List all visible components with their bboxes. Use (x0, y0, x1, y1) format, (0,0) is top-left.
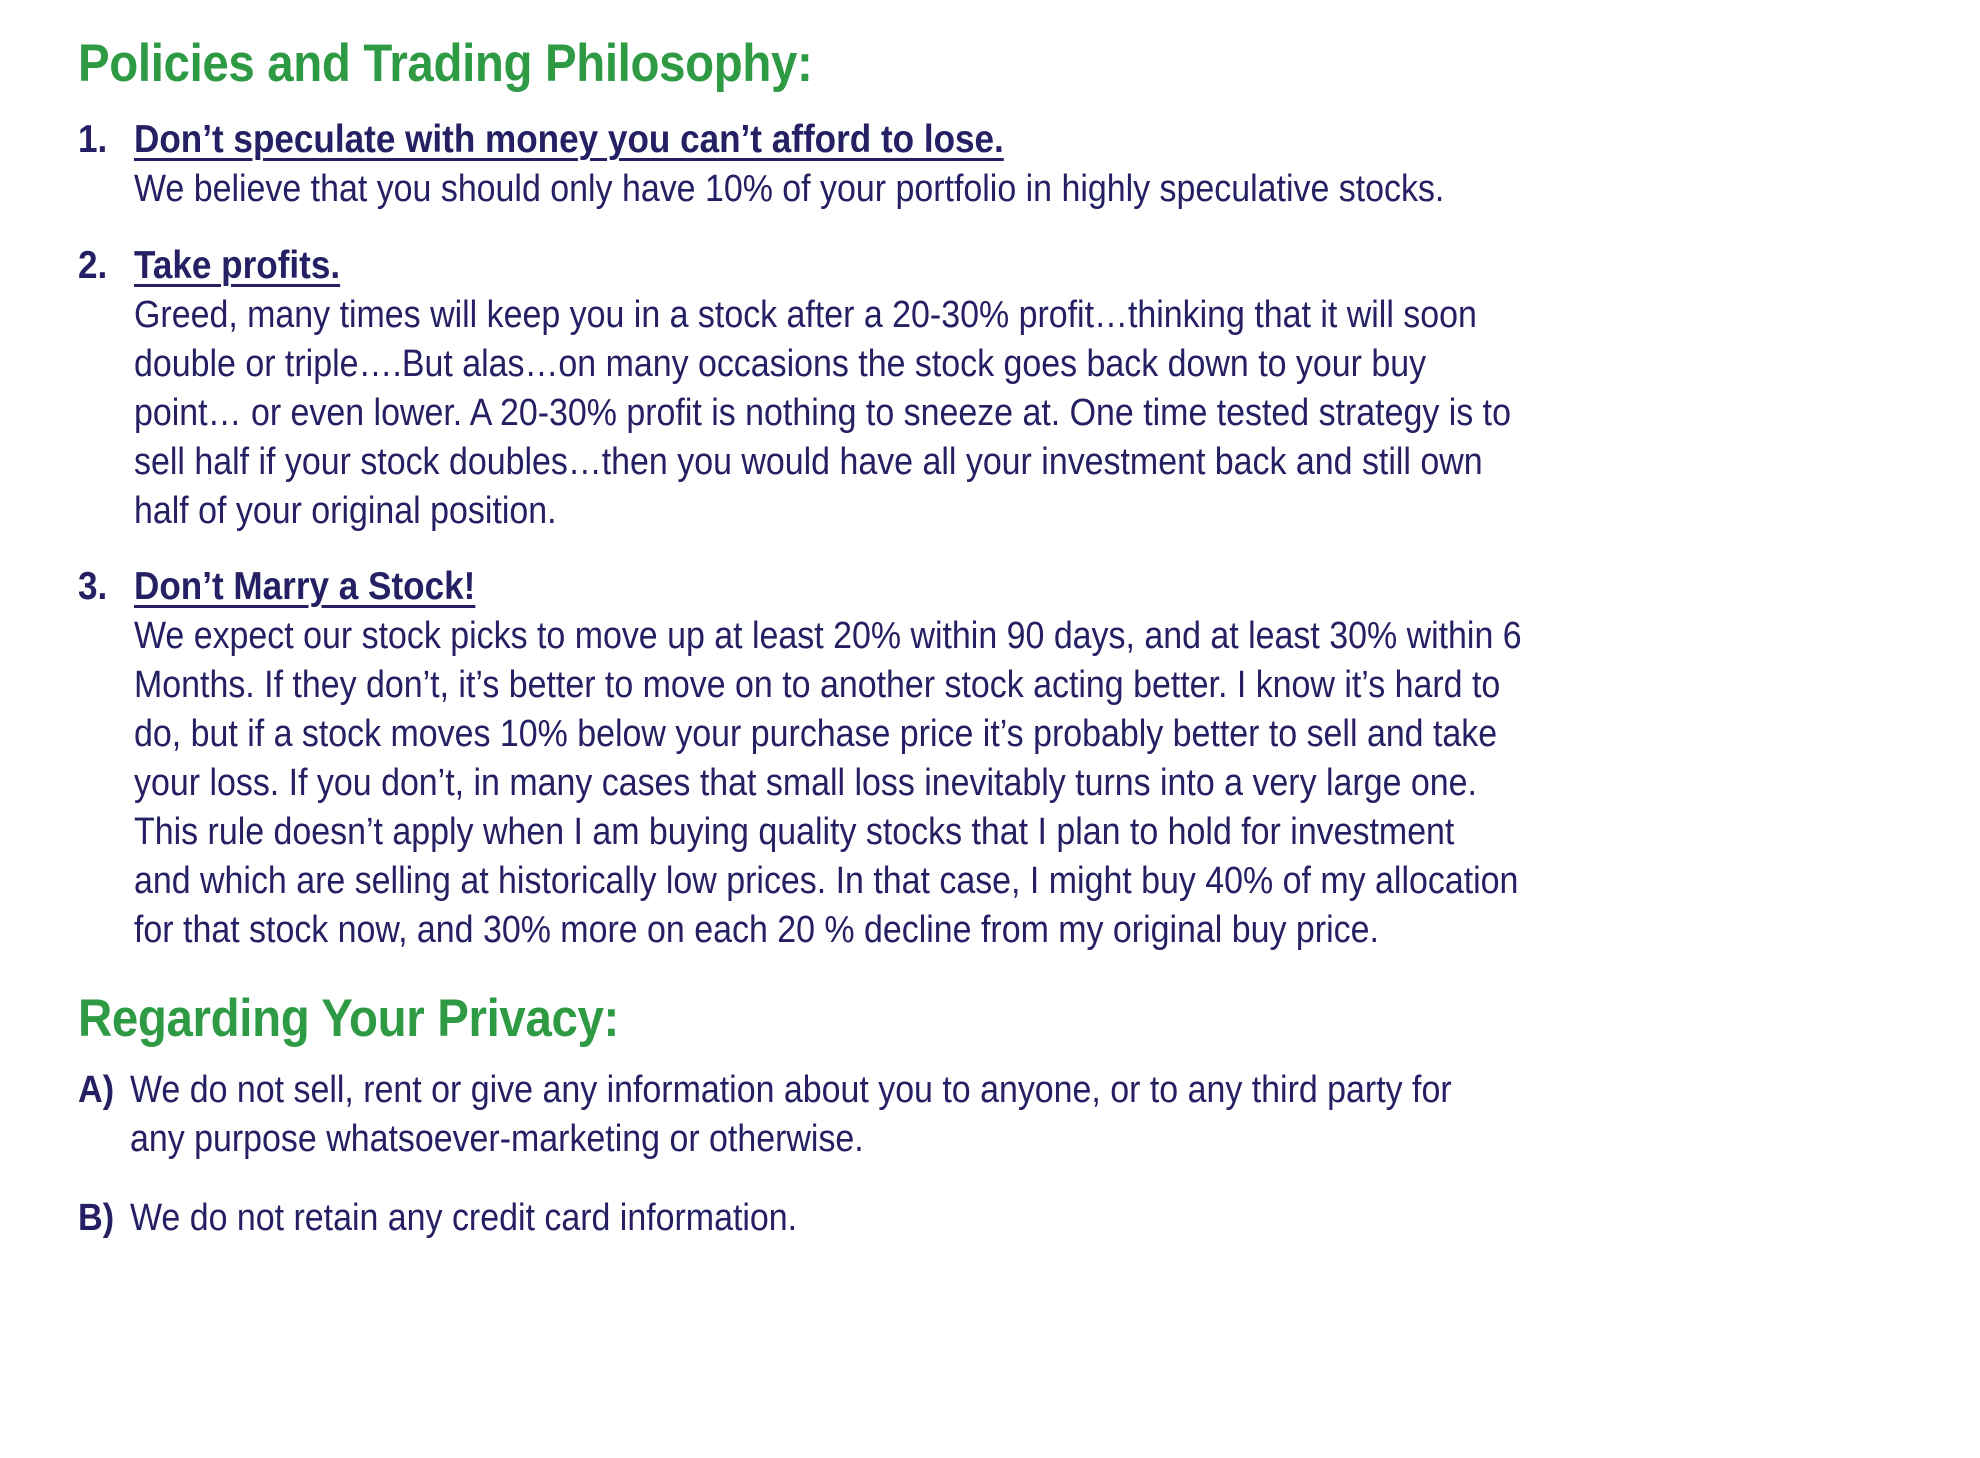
rule-2-body: Greed, many times will keep you in a sto… (134, 291, 1976, 536)
rule-3-body-line-6: and which are selling at historically lo… (134, 857, 1976, 906)
rule-3-body-line-7: for that stock now, and 30% more on each… (134, 906, 1976, 955)
rule-3-body-line-5: This rule doesn’t apply when I am buying… (134, 808, 1976, 857)
rule-2-body-line-4: sell half if your stock doubles…then you… (134, 438, 1976, 487)
rule-1-number: 1. (78, 115, 128, 164)
page-title-policies-and-trading-philosophy: Policies and Trading Philosophy: (78, 34, 1727, 93)
rule-1-body-line-1: We believe that you should only have 10%… (134, 165, 1976, 214)
rule-1-title: Don’t speculate with money you can’t aff… (134, 115, 1004, 164)
rule-3-body: We expect our stock picks to move up at … (134, 612, 1976, 955)
rule-2-body-line-2: double or triple….But alas…on many occas… (134, 340, 1976, 389)
trading-philosophy-list: 1. Don’t speculate with money you can’t … (78, 115, 1920, 955)
list-item-privacy-b: B) We do not retain any credit card info… (78, 1194, 1920, 1243)
rule-2-body-line-5: half of your original position. (134, 487, 1976, 536)
rule-3-body-line-3: do, but if a stock moves 10% below your … (134, 710, 1976, 759)
list-item-rule-2: 2. Take profits. Greed, many times will … (78, 241, 1920, 536)
rule-2-body-line-1: Greed, many times will keep you in a sto… (134, 291, 1976, 340)
rule-3-number: 3. (78, 562, 128, 611)
rule-1-heading: 1. Don’t speculate with money you can’t … (78, 115, 1920, 164)
list-item-privacy-a: A) We do not sell, rent or give any info… (78, 1066, 1920, 1164)
rule-2-body-line-3: point… or even lower. A 20-30% profit is… (134, 389, 1976, 438)
rule-3-body-line-4: your loss. If you don’t, in many cases t… (134, 759, 1976, 808)
page-title-regarding-your-privacy: Regarding Your Privacy: (78, 989, 1727, 1048)
rule-1-body: We believe that you should only have 10%… (134, 165, 1976, 214)
document-page: Policies and Trading Philosophy: 1. Don’… (0, 0, 1980, 1458)
privacy-b-line-1: We do not retain any credit card informa… (130, 1194, 1728, 1243)
rule-3-title: Don’t Marry a Stock! (134, 562, 475, 611)
list-item-rule-1: 1. Don’t speculate with money you can’t … (78, 115, 1920, 214)
rule-3-body-line-2: Months. If they don’t, it’s better to mo… (134, 661, 1976, 710)
rule-3-body-line-1: We expect our stock picks to move up at … (134, 612, 1976, 661)
privacy-a-body: We do not sell, rent or give any informa… (130, 1066, 1728, 1164)
rule-2-heading: 2. Take profits. (78, 241, 1920, 290)
rule-2-title: Take profits. (134, 241, 340, 290)
privacy-a-line-2: any purpose whatsoever-marketing or othe… (130, 1115, 1728, 1164)
privacy-a-line-1: We do not sell, rent or give any informa… (130, 1066, 1728, 1115)
privacy-list: A) We do not sell, rent or give any info… (78, 1066, 1920, 1243)
rule-3-heading: 3. Don’t Marry a Stock! (78, 562, 1920, 611)
list-item-rule-3: 3. Don’t Marry a Stock! We expect our st… (78, 562, 1920, 955)
rule-2-number: 2. (78, 241, 128, 290)
privacy-b-body: We do not retain any credit card informa… (130, 1194, 1728, 1243)
privacy-a-letter: A) (78, 1066, 125, 1115)
privacy-b-letter: B) (78, 1194, 125, 1243)
